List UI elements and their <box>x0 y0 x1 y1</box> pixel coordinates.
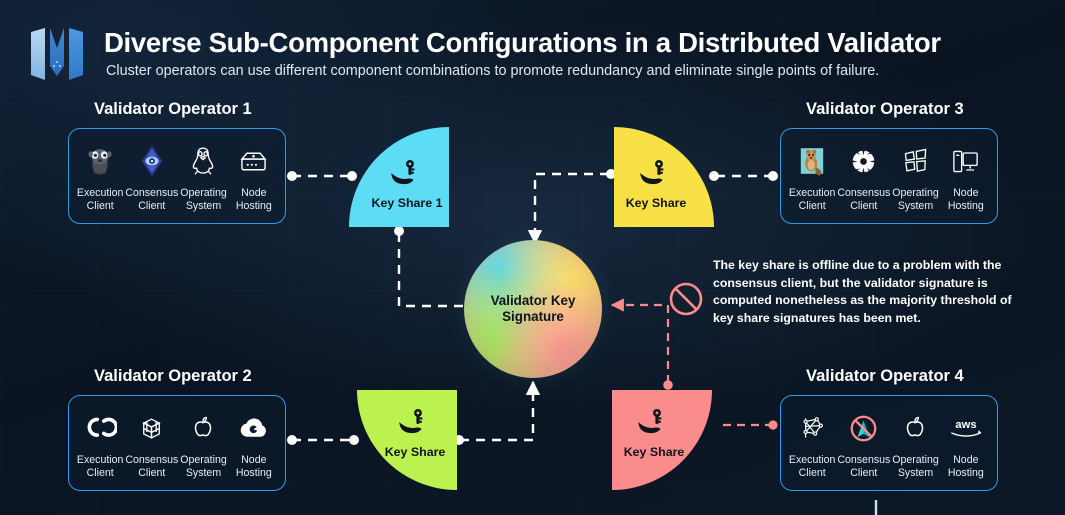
component-label: NodeHosting <box>229 454 279 479</box>
operator-1-consensus-client[interactable]: ConsensusClient <box>125 140 178 212</box>
component-label: ExecutionClient <box>75 187 125 212</box>
component-label: ExecutionClient <box>75 454 125 479</box>
key-share-4[interactable]: Key Share <box>612 390 712 490</box>
geth-gopher-icon <box>75 140 125 182</box>
apple-icon <box>178 407 228 449</box>
component-label: NodeHosting <box>941 187 991 212</box>
sphere-label-line1: Validator Key <box>491 293 576 309</box>
obol-logo-icon <box>28 26 86 82</box>
operator-1-box[interactable]: ExecutionClient ConsensusClient <box>68 128 286 224</box>
linux-penguin-icon <box>178 140 228 182</box>
lodestar-disabled-icon <box>837 407 890 449</box>
operator-3-node-hosting[interactable]: NodeHosting <box>941 140 991 212</box>
erigon-beaver-icon <box>787 140 837 182</box>
page-title: Diverse Sub-Component Configurations in … <box>104 27 941 59</box>
desktop-computer-icon <box>941 140 991 182</box>
operator-3-title: Validator Operator 3 <box>806 100 964 119</box>
operator-3-box[interactable]: ExecutionClient <box>780 128 998 224</box>
key-share-4-label: Key Share <box>624 445 685 459</box>
connector-op2-to-share2 <box>287 435 359 445</box>
infographic-canvas: Diverse Sub-Component Configurations in … <box>0 0 1065 515</box>
component-label: ConsensusClient <box>125 187 178 212</box>
key-share-1[interactable]: Key Share 1 <box>349 127 449 227</box>
component-label: NodeHosting <box>229 187 279 212</box>
operator-2-operating-system[interactable]: OperatingSystem <box>178 407 228 479</box>
operator-1-node-hosting[interactable]: NodeHosting <box>229 140 279 212</box>
connector-op3-to-share3 <box>709 171 778 181</box>
offline-annotation-text: The key share is offline due to a proble… <box>713 257 1013 327</box>
hand-holding-key-icon <box>637 160 675 193</box>
component-label: ConsensusClient <box>837 454 890 479</box>
connector-op1-to-share1 <box>287 171 357 181</box>
component-label: OperatingSystem <box>178 187 228 212</box>
sphere-label: Validator Key Signature <box>464 240 602 378</box>
operator-3-operating-system[interactable]: OperatingSystem <box>890 140 940 212</box>
lighthouse-sunburst-icon <box>837 140 890 182</box>
component-label: ExecutionClient <box>787 454 837 479</box>
operator-1-title: Validator Operator 1 <box>94 100 252 119</box>
operator-2-title: Validator Operator 2 <box>94 367 252 386</box>
component-label: OperatingSystem <box>178 454 228 479</box>
operator-2-execution-client[interactable]: ExecutionClient <box>75 407 125 479</box>
google-cloud-icon <box>229 407 279 449</box>
svg-text:aws: aws <box>955 419 976 431</box>
operator-2-box[interactable]: ExecutionClient ConsensusClient <box>68 395 286 491</box>
operator-1-operating-system[interactable]: OperatingSystem <box>178 140 228 212</box>
operator-4-box[interactable]: ExecutionClient ConsensusClient <box>780 395 998 491</box>
prysm-diamond-icon <box>125 140 178 182</box>
apple-icon <box>890 407 940 449</box>
hand-holding-key-icon <box>388 160 426 193</box>
operator-2-node-hosting[interactable]: NodeHosting <box>229 407 279 479</box>
component-label: ConsensusClient <box>125 454 178 479</box>
operator-4-execution-client[interactable]: ExecutionClient <box>787 407 837 479</box>
sphere-label-line2: Signature <box>502 309 564 325</box>
component-label: OperatingSystem <box>890 187 940 212</box>
connector-op4-to-share4-offline <box>718 420 778 429</box>
component-label: ExecutionClient <box>787 187 837 212</box>
hand-holding-key-icon <box>396 409 434 442</box>
operator-1-execution-client[interactable]: ExecutionClient <box>75 140 125 212</box>
besu-network-icon <box>787 407 837 449</box>
operator-4-node-hosting[interactable]: aws NodeHosting <box>941 407 991 479</box>
hand-holding-key-icon <box>635 409 673 442</box>
operator-4-operating-system[interactable]: OperatingSystem <box>890 407 940 479</box>
operator-4-consensus-client[interactable]: ConsensusClient <box>837 407 890 479</box>
key-share-2-label: Key Share <box>385 445 446 459</box>
server-rack-icon <box>229 140 279 182</box>
wireframe-cube-icon <box>125 407 178 449</box>
key-share-1-label: Key Share 1 <box>372 196 443 210</box>
component-label: NodeHosting <box>941 454 991 479</box>
key-share-3-label: Key Share <box>626 196 687 210</box>
component-label: OperatingSystem <box>890 454 940 479</box>
key-share-2[interactable]: Key Share <box>357 390 457 490</box>
page-subtitle: Cluster operators can use different comp… <box>106 63 879 79</box>
connector-share4-to-sphere-offline <box>612 305 673 390</box>
nethermind-icon <box>75 407 125 449</box>
validator-key-signature-sphere[interactable]: Validator Key Signature <box>464 240 602 378</box>
key-share-3[interactable]: Key Share <box>614 127 714 227</box>
component-label: ConsensusClient <box>837 187 890 212</box>
aws-icon: aws <box>941 407 991 449</box>
connector-share3-to-sphere <box>535 169 616 243</box>
windows-icon <box>890 140 940 182</box>
header: Diverse Sub-Component Configurations in … <box>0 0 1065 92</box>
connector-share2-to-sphere <box>454 382 533 445</box>
operator-4-title: Validator Operator 4 <box>806 367 964 386</box>
prohibition-sign-icon <box>668 281 704 317</box>
operator-3-execution-client[interactable]: ExecutionClient <box>787 140 837 212</box>
operator-3-consensus-client[interactable]: ConsensusClient <box>837 140 890 212</box>
operator-2-consensus-client[interactable]: ConsensusClient <box>125 407 178 479</box>
